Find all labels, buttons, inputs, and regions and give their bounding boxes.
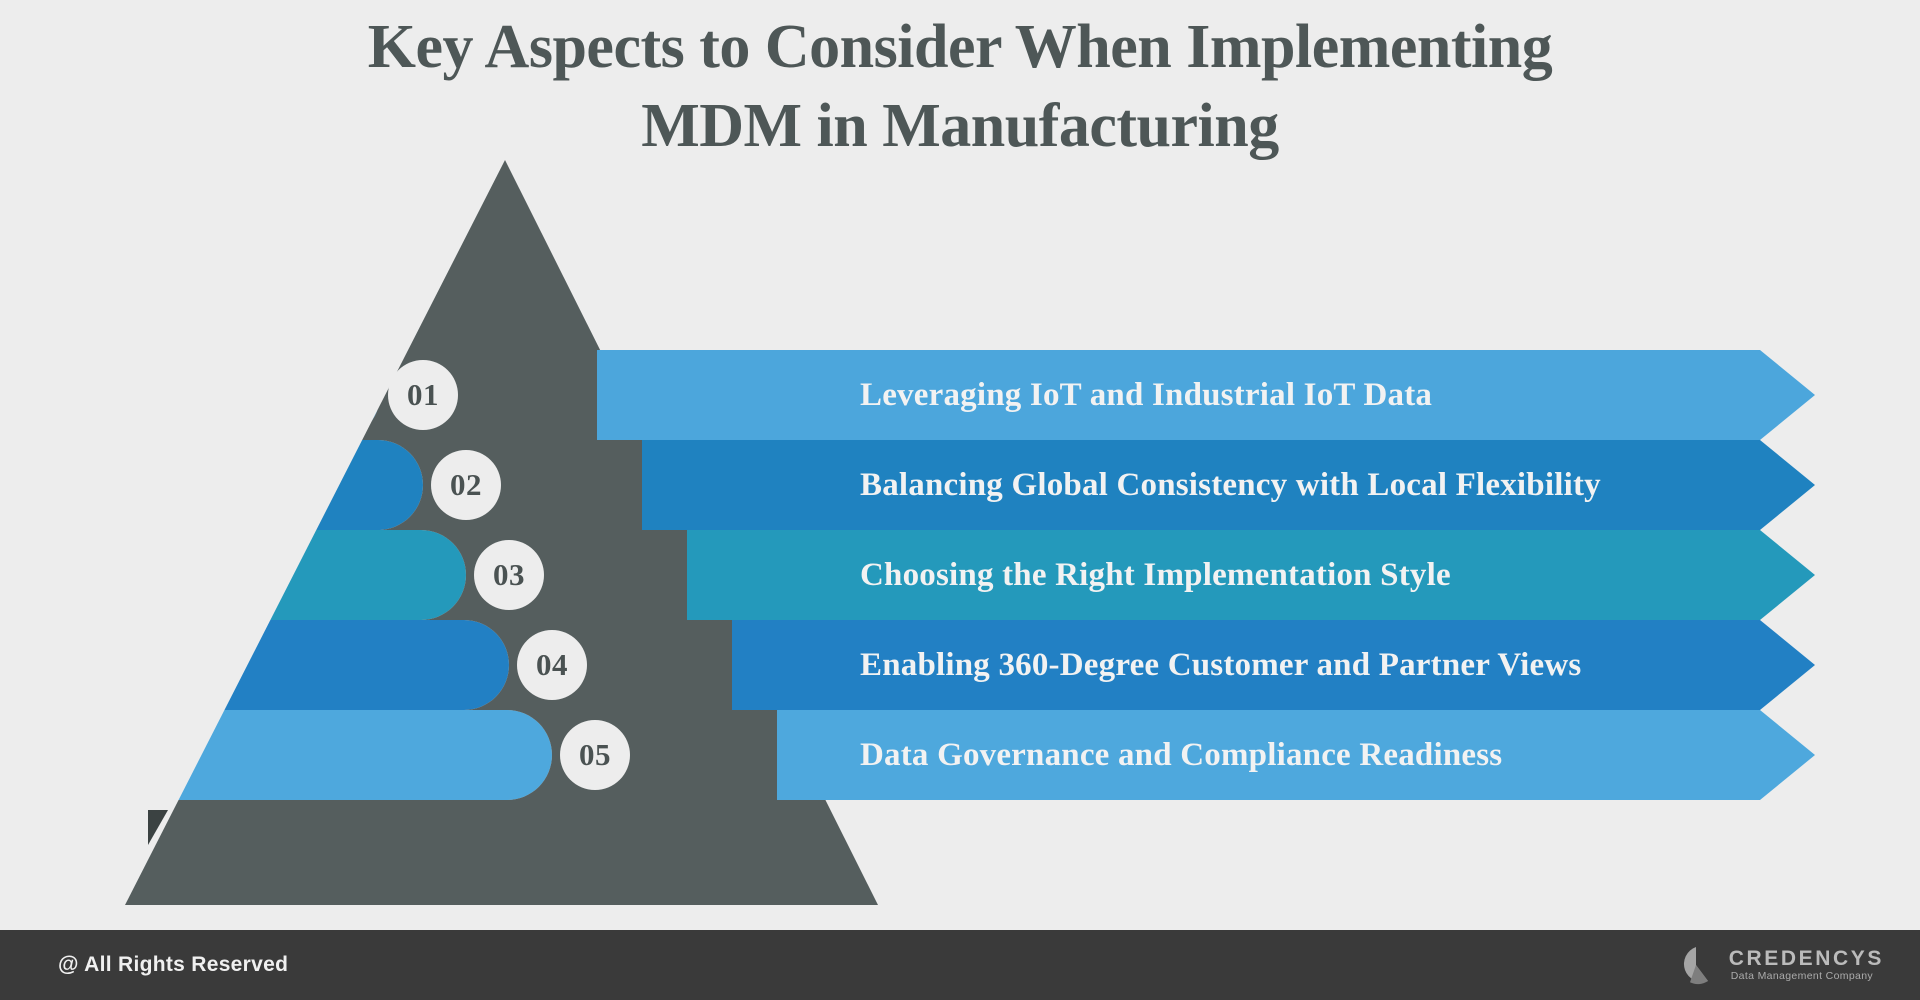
- arrow-bar-1: [597, 350, 1815, 440]
- infographic-canvas: Key Aspects to Consider When Implementin…: [0, 0, 1920, 1000]
- logo-tagline: Data Management Company: [1729, 971, 1884, 982]
- arrow-bar-5: [777, 710, 1815, 800]
- pyramid-diagram: [0, 0, 1920, 930]
- footer-bar: @ All Rights Reserved CREDENCYS Data Man…: [0, 930, 1920, 1000]
- arrow-bar-4: [732, 620, 1815, 710]
- credencys-arc-logo-icon: [1674, 943, 1718, 987]
- credencys-logo[interactable]: CREDENCYS Data Management Company: [1674, 943, 1884, 987]
- arrow-bar-3: [687, 530, 1815, 620]
- copyright-text: @ All Rights Reserved: [58, 953, 288, 977]
- logo-name: CREDENCYS: [1729, 948, 1884, 970]
- arrow-bar-2: [642, 440, 1815, 530]
